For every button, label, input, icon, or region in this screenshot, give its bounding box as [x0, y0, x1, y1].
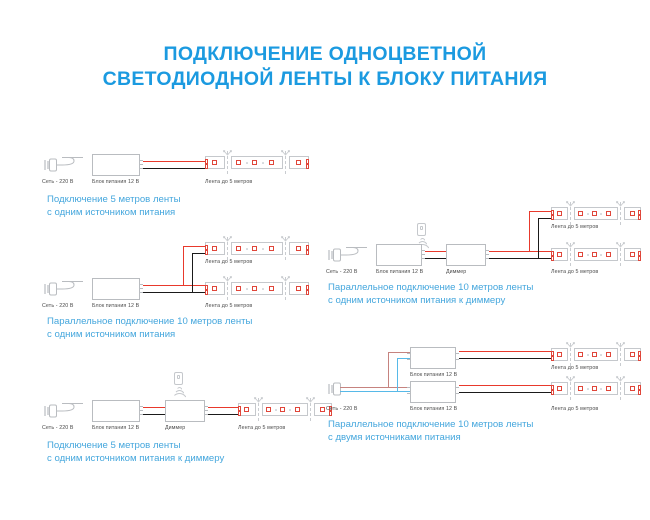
mains-plug-icon [42, 278, 98, 300]
mains-label: Сеть - 220 В [326, 269, 358, 275]
strip-top-label: Лента до 5 метров [551, 365, 598, 371]
mains-label: Сеть - 220 В [326, 406, 358, 412]
positive-wire [425, 251, 446, 252]
diagram-parallel-10m-one-psu: Лента до 5 метров [42, 238, 332, 338]
positive-wire [489, 251, 551, 252]
mains-label: Сеть - 220 В [42, 179, 74, 185]
diagram-caption: Параллельное подключение 10 метров ленты… [328, 419, 533, 444]
mains-plug-icon [42, 154, 98, 176]
positive-wire [143, 285, 205, 286]
negative-wire [459, 392, 551, 393]
power-supply-icon [92, 278, 140, 300]
positive-wire-top [183, 246, 205, 247]
led-strip-icon [205, 282, 329, 295]
psu-terminal [407, 353, 410, 354]
negative-wire [143, 414, 165, 415]
psu-terminal [407, 393, 410, 394]
phase-wire [340, 387, 388, 388]
negative-wire [143, 292, 205, 293]
psu-terminal [140, 410, 143, 411]
negative-wire [489, 258, 551, 259]
psu-terminal [140, 164, 143, 165]
diagram-parallel-10m-two-psu: Блок питания 12 В Блок питания 12 В [326, 335, 646, 440]
negative-wire-top [192, 253, 205, 254]
led-strip-icon [205, 242, 329, 255]
positive-wire-riser [529, 211, 530, 252]
diagram-caption: Подключение 5 метров ленты с одним источ… [47, 440, 224, 465]
negative-wire-riser [192, 253, 193, 293]
positive-wire-top [529, 211, 551, 212]
caption-line2: с одним источником питания к диммеру [47, 453, 224, 466]
page-title: ПОДКЛЮЧЕНИЕ ОДНОЦВЕТНОЙ СВЕТОДИОДНОЙ ЛЕН… [0, 42, 650, 92]
strip-label: Лента до 5 метров [238, 425, 285, 431]
psu-terminal [140, 288, 143, 289]
negative-wire [143, 168, 205, 169]
caption-line1: Параллельное подключение 10 метров ленты [328, 419, 533, 430]
positive-wire-riser [183, 246, 184, 286]
psu-label: Блок питания 12 В [92, 303, 139, 309]
led-strip-icon [205, 156, 329, 169]
psu-label: Блок питания 12 В [92, 425, 139, 431]
power-supply-icon [92, 154, 140, 176]
psu-bottom-label: Блок питания 12 В [410, 406, 457, 412]
strip-top-label: Лента до 5 метров [551, 224, 598, 230]
mains-label: Сеть - 220 В [42, 303, 74, 309]
led-strip-icon [551, 248, 646, 261]
phase-wire-riser [388, 352, 389, 388]
mains-plug-icon [326, 378, 382, 400]
power-supply-icon [376, 244, 422, 266]
positive-wire [208, 407, 238, 408]
dimmer-icon [165, 400, 205, 422]
led-strip-icon [551, 348, 646, 361]
caption-line2: с двумя источниками питания [328, 432, 533, 445]
psu-terminal [456, 387, 459, 388]
neutral-wire [340, 391, 388, 392]
negative-wire [459, 358, 551, 359]
caption-line1: Параллельное подключение 10 метров ленты [328, 282, 533, 293]
caption-line2: с одним источником питания [47, 207, 180, 220]
neutral-wire [388, 391, 410, 392]
psu-terminal [422, 254, 425, 255]
negative-wire-riser [538, 218, 539, 259]
negative-wire [425, 258, 446, 259]
negative-wire [208, 414, 238, 415]
mains-plug-icon [42, 400, 98, 422]
caption-line2: с одним источником питания к диммеру [328, 295, 533, 308]
strip-bottom-label: Лента до 5 метров [551, 269, 598, 275]
positive-wire [459, 385, 551, 386]
psu-terminal [407, 387, 410, 388]
dimmer-terminal [486, 254, 489, 255]
caption-line2: с одним источником питания [47, 329, 252, 342]
dimmer-label: Диммер [446, 269, 466, 275]
page-title-line1: ПОДКЛЮЧЕНИЕ ОДНОЦВЕТНОЙ [164, 43, 487, 65]
diagram-caption: Параллельное подключение 10 метров ленты… [47, 316, 252, 341]
diagram-single-5m: Сеть - 220 В Блок питания 12 В Лента до … [42, 152, 332, 224]
page-title-line2: СВЕТОДИОДНОЙ ЛЕНТЫ К БЛОКУ ПИТАНИЯ [103, 68, 548, 90]
positive-wire [143, 407, 165, 408]
positive-wire [459, 351, 551, 352]
strip-top-label: Лента до 5 метров [205, 259, 252, 265]
psu-terminal [456, 353, 459, 354]
strip-bottom-label: Лента до 5 метров [205, 303, 252, 309]
mains-plug-icon [326, 244, 382, 266]
led-strip-icon [238, 403, 338, 416]
power-supply-icon [92, 400, 140, 422]
mains-label: Сеть - 220 В [42, 425, 74, 431]
caption-line1: Подключение 5 метров ленты [47, 194, 180, 205]
strip-label: Лента до 5 метров [205, 179, 252, 185]
psu-top-label: Блок питания 12 В [410, 372, 457, 378]
remote-control-icon [170, 372, 188, 398]
positive-wire [143, 161, 205, 162]
psu-label: Блок питания 12 В [92, 179, 139, 185]
caption-line1: Подключение 5 метров ленты [47, 440, 180, 451]
psu-label: Блок питания 12 В [376, 269, 423, 275]
strip-bottom-label: Лента до 5 метров [551, 406, 598, 412]
power-supply-icon [410, 347, 456, 369]
dimmer-icon [446, 244, 486, 266]
diagram-caption: Подключение 5 метров ленты с одним источ… [47, 194, 180, 219]
caption-line1: Параллельное подключение 10 метров ленты [47, 316, 252, 327]
neutral-wire-riser [397, 358, 398, 392]
diagram-single-5m-dimmer: Сеть - 220 В Блок питания 12 В Диммер Ле… [42, 372, 332, 467]
power-supply-icon [410, 381, 456, 403]
infographic-page: ПОДКЛЮЧЕНИЕ ОДНОЦВЕТНОЙ СВЕТОДИОДНОЙ ЛЕН… [0, 0, 650, 520]
psu-terminal [407, 359, 410, 360]
diagram-parallel-10m-dimmer: Лента до 5 метров [326, 198, 646, 303]
led-strip-icon [551, 382, 646, 395]
led-strip-icon [551, 207, 646, 220]
negative-wire-top [538, 218, 551, 219]
diagram-caption: Параллельное подключение 10 метров ленты… [328, 282, 533, 307]
dimmer-label: Диммер [165, 425, 185, 431]
dimmer-terminal [205, 410, 208, 411]
